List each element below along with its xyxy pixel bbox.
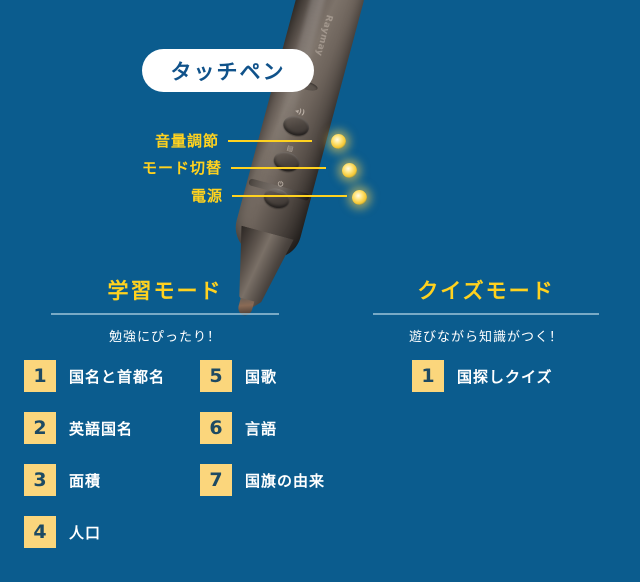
study-mode-title: 学習モード [0,278,330,304]
callout-power-label: 電源 [191,185,223,206]
mode-button-highlight-dot [342,163,357,178]
volume-icon: ◂)) [288,105,311,118]
item-label: 面積 [69,470,101,491]
touch-pen-feature-panel: Raymay ◂)) ▤ ⏻ 音量調節 モード切替 電源 タッチペン 学 [0,0,640,582]
quiz-mode-subtitle: 遊びながら知識がつく！ [332,326,640,345]
quiz-mode-list: 1 国探しクイズ [412,360,553,412]
item-number: 3 [24,464,56,496]
section-quiz-mode: クイズモード 遊びながら知識がつく！ [332,278,640,345]
list-item[interactable]: 4 人口 [24,516,165,548]
item-label: 国旗の由来 [245,470,325,491]
item-label: 国探しクイズ [457,366,553,387]
study-mode-divider [51,313,279,315]
item-label: 人口 [69,522,101,543]
callout-volume-label: 音量調節 [155,130,219,151]
callout-volume-leader-line [228,140,312,142]
callout-power-leader-line [232,195,347,197]
item-number: 5 [200,360,232,392]
callout-mode-leader-line [231,167,326,169]
list-item[interactable]: 2 英語国名 [24,412,165,444]
pen-highlight [254,0,332,212]
study-mode-list-column-a: 1 国名と首都名 2 英語国名 3 面積 4 人口 [24,360,165,568]
list-item[interactable]: 7 国旗の由来 [200,464,325,496]
list-item[interactable]: 5 国歌 [200,360,325,392]
callout-volume: 音量調節 [155,130,312,151]
item-label: 言語 [245,418,277,439]
item-label: 国歌 [245,366,277,387]
pen-brand-label: Raymay [312,9,335,62]
list-item[interactable]: 1 国名と首都名 [24,360,165,392]
list-item[interactable]: 6 言語 [200,412,325,444]
item-label: 国名と首都名 [69,366,165,387]
volume-button-highlight-dot [331,134,346,149]
section-study-mode: 学習モード 勉強にぴったり！ [0,278,330,345]
item-number: 6 [200,412,232,444]
touch-pen-badge: タッチペン [142,49,314,92]
item-number: 4 [24,516,56,548]
item-number: 1 [24,360,56,392]
list-item[interactable]: 3 面積 [24,464,165,496]
item-number: 2 [24,412,56,444]
quiz-mode-title: クイズモード [332,278,640,304]
study-mode-list-column-b: 5 国歌 6 言語 7 国旗の由来 [200,360,325,516]
item-number: 7 [200,464,232,496]
power-button-highlight-dot [352,190,367,205]
callout-mode: モード切替 [142,157,326,178]
list-item[interactable]: 1 国探しクイズ [412,360,553,392]
callout-mode-label: モード切替 [142,157,222,178]
item-label: 英語国名 [69,418,133,439]
item-number: 1 [412,360,444,392]
callout-power: 電源 [191,185,347,206]
quiz-mode-divider [373,313,599,315]
study-mode-subtitle: 勉強にぴったり！ [0,326,330,345]
